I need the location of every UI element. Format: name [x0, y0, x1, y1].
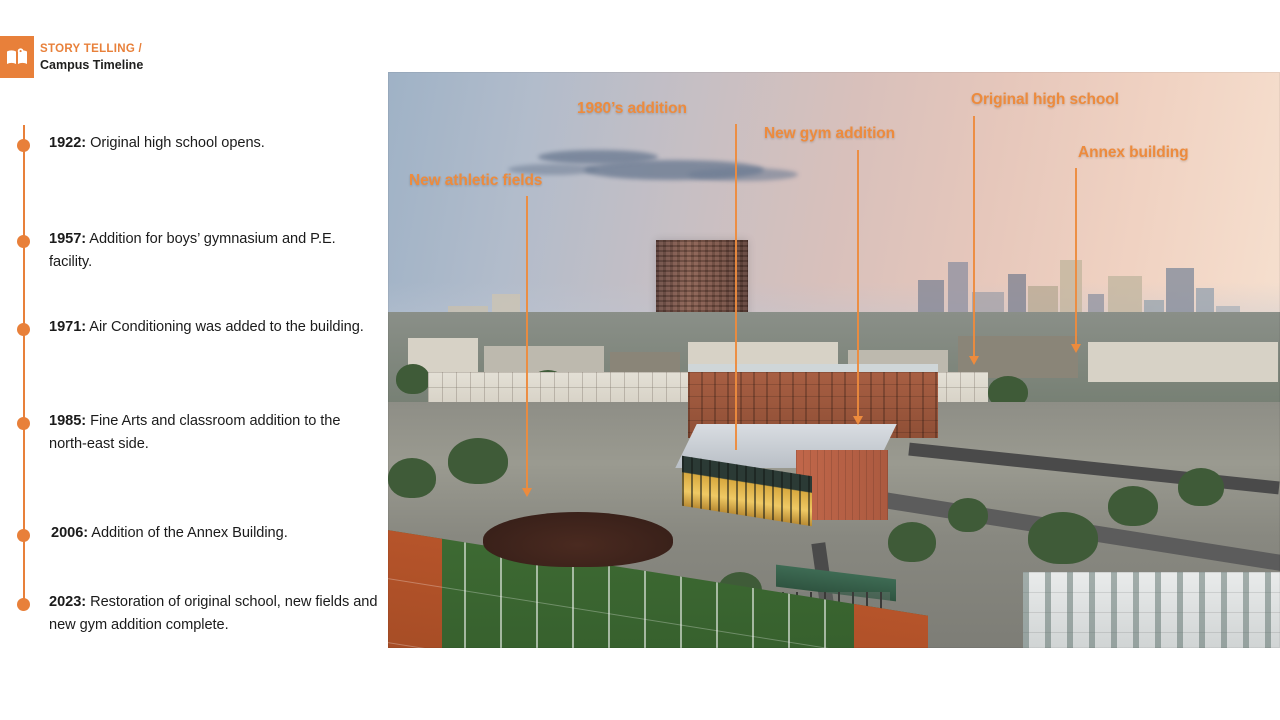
timeline-entry-text: 2006: Addition of the Annex Building.: [51, 522, 381, 545]
timeline-desc: Addition for boys’ gymnasium and P.E. fa…: [49, 231, 336, 270]
map-book-pin-icon: [0, 36, 34, 78]
timeline-year: 1985:: [49, 413, 86, 429]
timeline-desc: Addition of the Annex Building.: [88, 525, 288, 541]
annotation-label-new-gym-addition: New gym addition: [764, 125, 895, 143]
timeline-dot: [18, 236, 29, 247]
annotation-arrowhead-new-gym-addition: [853, 416, 863, 425]
timeline-dot: [18, 599, 29, 610]
annotation-leader-original-high-school: [973, 116, 975, 358]
timeline-year: 1922:: [49, 135, 86, 151]
campus-aerial-photo: New athletic fields 1980’s addition New …: [388, 72, 1280, 648]
annotation-leader-annex-building: [1075, 168, 1077, 346]
annotation-label-annex-building: Annex building: [1078, 144, 1189, 162]
annotation-label-original-high-school: Original high school: [971, 91, 1119, 109]
timeline-desc: Air Conditioning was added to the buildi…: [86, 319, 364, 335]
brand-header: STORY TELLING / Campus Timeline: [0, 36, 143, 78]
timeline-dot: [18, 530, 29, 541]
annotation-arrowhead-new-athletic-fields: [522, 488, 532, 497]
timeline-dot: [18, 140, 29, 151]
annotation-label-new-athletic-fields: New athletic fields: [409, 172, 542, 190]
timeline-year: 1957:: [49, 231, 86, 247]
timeline-desc: Fine Arts and classroom addition to the …: [49, 413, 340, 452]
campus-timeline: 1922: Original high school opens. 1957: …: [0, 118, 382, 638]
annotation-label-1980s-addition: 1980’s addition: [577, 100, 687, 118]
timeline-entry-text: 1922: Original high school opens.: [49, 132, 379, 155]
timeline-entry-text: 1957: Addition for boys’ gymnasium and P…: [49, 228, 379, 274]
timeline-desc: Restoration of original school, new fiel…: [49, 594, 377, 633]
annotation-arrowhead-annex-building: [1071, 344, 1081, 353]
new-gym-building: [678, 424, 893, 530]
infield-dirt: [483, 512, 673, 567]
timeline-year: 2006:: [51, 525, 88, 541]
white-apartment-building: [1023, 572, 1280, 648]
annotation-leader-new-gym-addition: [857, 150, 859, 418]
cloud: [688, 168, 798, 181]
timeline-entry-text: 1985: Fine Arts and classroom addition t…: [49, 410, 379, 456]
annotation-leader-new-athletic-fields: [526, 196, 528, 490]
timeline-dot: [18, 324, 29, 335]
timeline-dot: [18, 418, 29, 429]
timeline-year: 1971:: [49, 319, 86, 335]
annotation-arrowhead-original-high-school: [969, 356, 979, 365]
timeline-entry-text: 2023: Restoration of original school, ne…: [49, 591, 379, 637]
brand-kicker: STORY TELLING /: [40, 42, 143, 57]
annotation-leader-1980s-addition: [735, 124, 737, 450]
timeline-entry-text: 1971: Air Conditioning was added to the …: [49, 316, 379, 339]
timeline-desc: Original high school opens.: [86, 135, 265, 151]
timeline-year: 2023:: [49, 594, 86, 610]
page-title: Campus Timeline: [40, 57, 143, 73]
